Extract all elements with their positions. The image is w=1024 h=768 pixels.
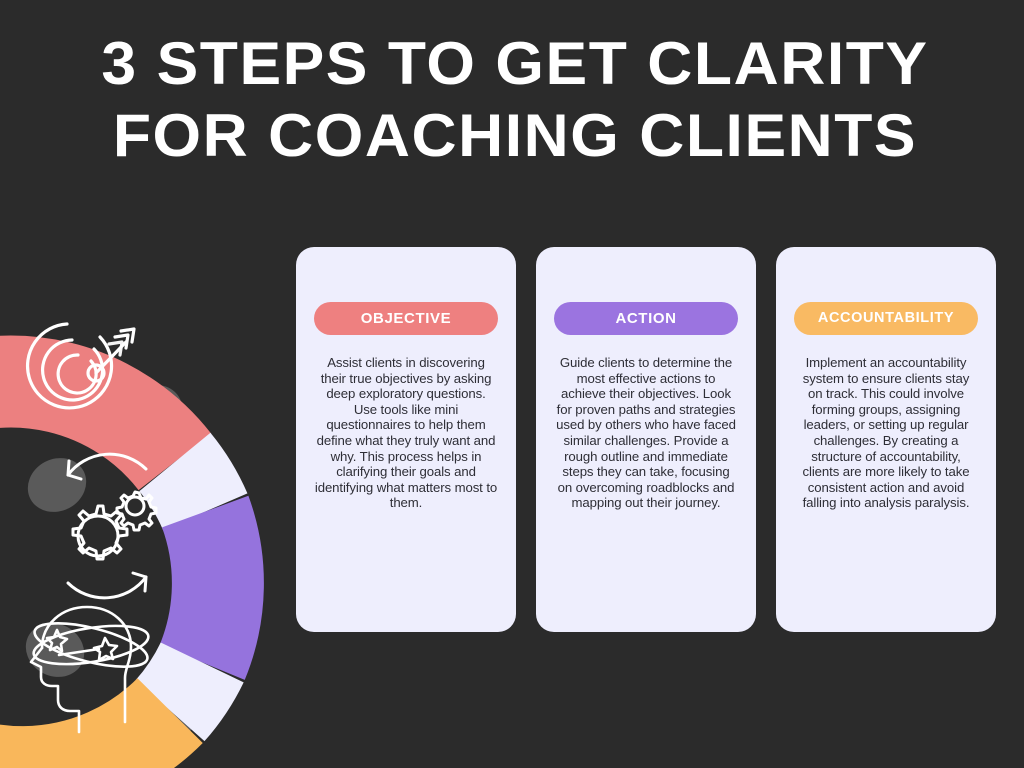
infographic-poster: 3 STEPS TO GET CLARITY FOR COACHING CLIE… [0, 0, 1024, 768]
badge-accountability: ACCOUNTABILITY [794, 302, 978, 335]
step-card-action[interactable]: ACTION Guide clients to determine the mo… [536, 247, 756, 632]
ring-segment-accountability [0, 711, 170, 768]
card-body-action: Guide clients to determine the most effe… [554, 355, 738, 511]
title-line-2: FOR COACHING CLIENTS [94, 100, 936, 172]
step-card-objective[interactable]: OBJECTIVE Assist clients in discovering … [296, 247, 516, 632]
circular-process-graphic [0, 125, 310, 768]
ring-segment-objective [0, 382, 175, 462]
ring-segment-action [202, 512, 218, 663]
badge-action: ACTION [554, 302, 738, 335]
ring-connector-objective-action [175, 462, 205, 512]
card-body-objective: Assist clients in discovering their true… [314, 355, 498, 511]
card-body-accountability: Implement an accountability system to en… [794, 355, 978, 511]
page-title: 3 STEPS TO GET CLARITY FOR COACHING CLIE… [110, 28, 920, 172]
badge-objective: OBJECTIVE [314, 302, 498, 335]
ring-connector-action-accountability [170, 662, 202, 710]
step-card-accountability[interactable]: ACCOUNTABILITY Implement an accountabili… [776, 247, 996, 632]
title-line-1: 3 STEPS TO GET CLARITY [94, 28, 936, 100]
